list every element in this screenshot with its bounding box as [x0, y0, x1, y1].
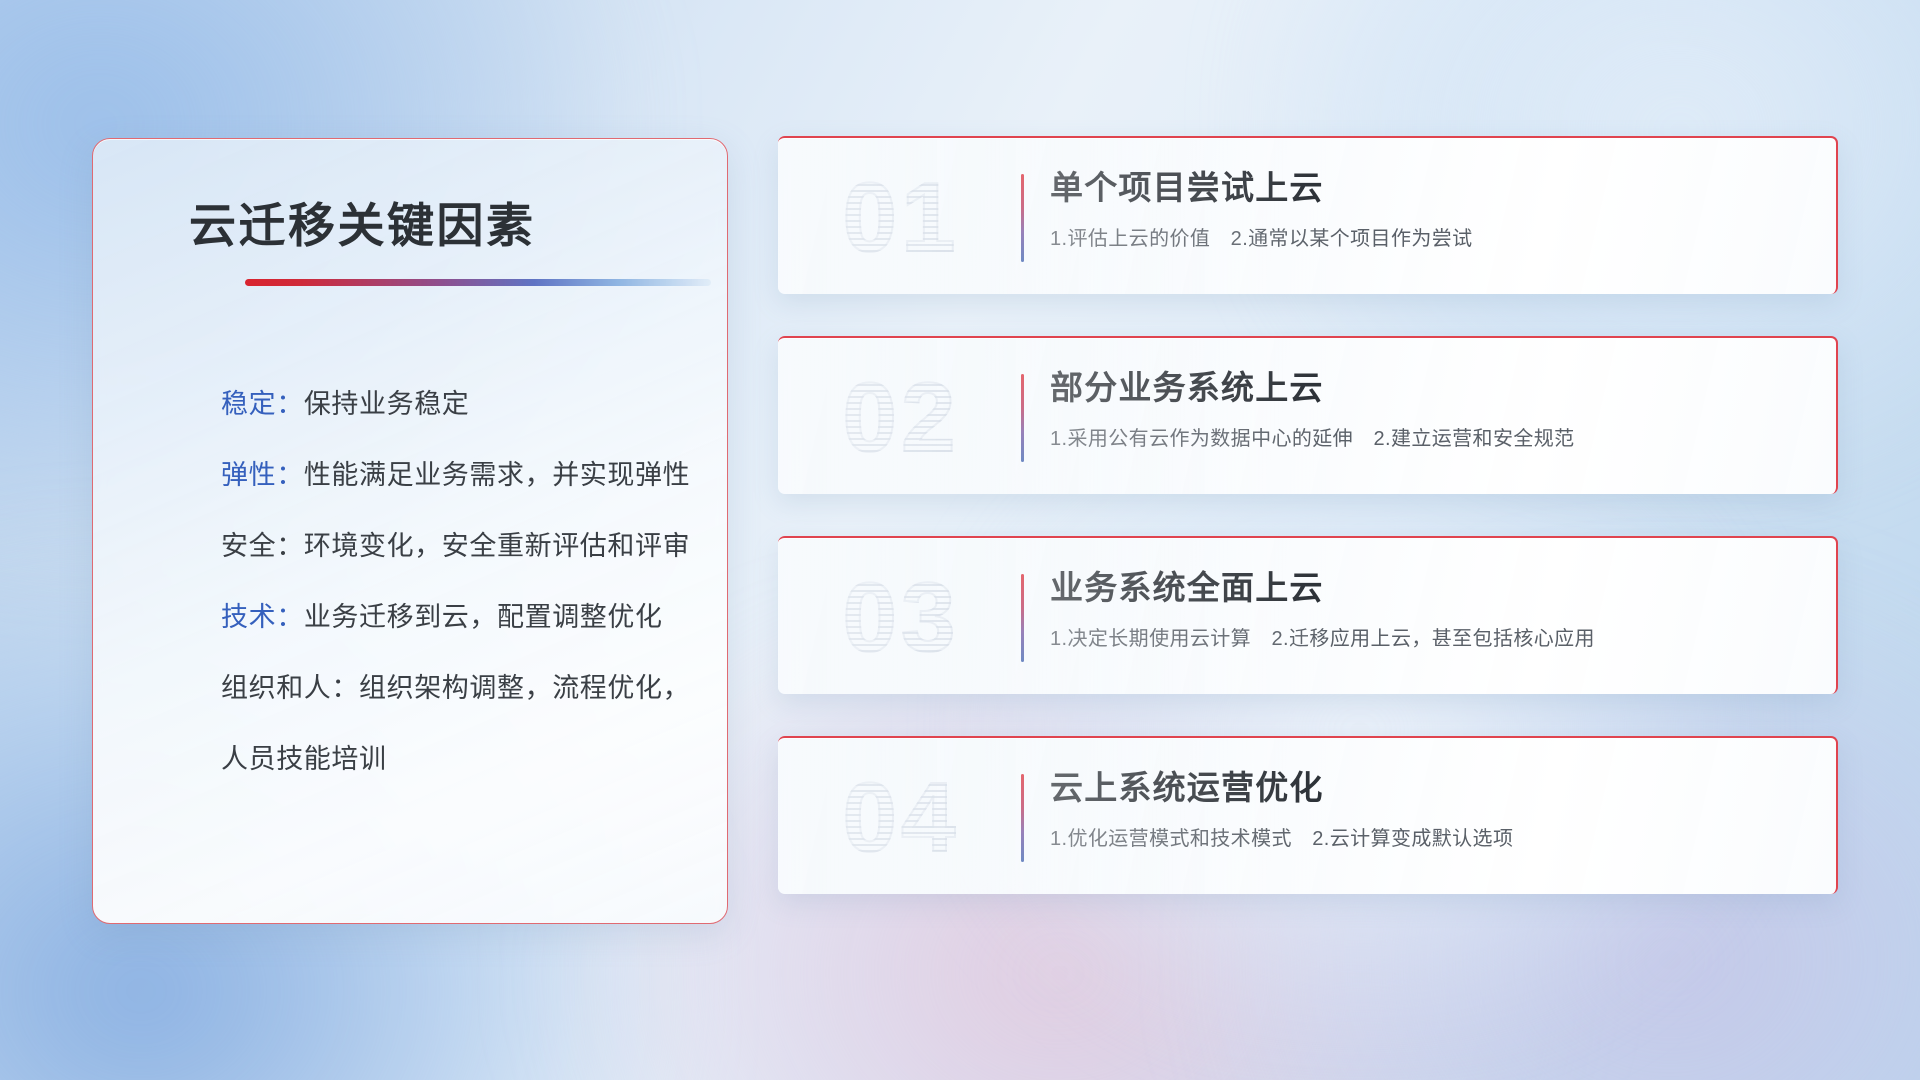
list-item: 弹性：性能满足业务需求，并实现弹性: [221, 462, 687, 489]
list-item-label: 安全：: [221, 531, 304, 561]
stage-number-watermark: 01: [806, 152, 996, 282]
list-item: 技术：业务迁移到云，配置调整优化: [221, 604, 687, 631]
stage-card-title: 云上系统运营优化: [1050, 768, 1806, 808]
list-item-text: 业务迁移到云，配置调整优化: [304, 602, 663, 632]
stage-card-title: 部分业务系统上云: [1050, 368, 1806, 408]
stage-accent-bar: [1021, 174, 1024, 262]
list-item-text: 保持业务稳定: [304, 389, 470, 419]
stage-card-description: 1.决定长期使用云计算 2.迁移应用上云，甚至包括核心应用: [1050, 622, 1806, 651]
stage-number-watermark: 02: [806, 352, 996, 482]
list-item-label: 组织和人：: [221, 673, 359, 703]
stage-card-body: 云上系统运营优化 1.优化运营模式和技术模式 2.云计算变成默认选项: [1050, 768, 1806, 851]
stage-card-body: 部分业务系统上云 1.采用公有云作为数据中心的延伸 2.建立运营和安全规范: [1050, 368, 1806, 451]
stage-card[interactable]: 04 云上系统运营优化 1.优化运营模式和技术模式 2.云计算变成默认选项: [778, 736, 1838, 894]
page-title: 云迁移关键因素: [189, 187, 536, 256]
list-item: 稳定：保持业务稳定: [221, 391, 687, 418]
stage-card-description: 1.评估上云的价值 2.通常以某个项目作为尝试: [1050, 222, 1806, 251]
key-factors-panel: 云迁移关键因素 稳定：保持业务稳定 弹性：性能满足业务需求，并实现弹性 安全：环…: [92, 138, 728, 924]
slide-stage: 云迁移关键因素 稳定：保持业务稳定 弹性：性能满足业务需求，并实现弹性 安全：环…: [0, 0, 1920, 1080]
list-item-text: 人员技能培训: [221, 744, 387, 774]
list-item-label: 技术：: [221, 602, 304, 632]
list-item-text: 组织架构调整，流程优化，: [359, 673, 690, 703]
title-underline-rule: [245, 279, 711, 286]
stage-card[interactable]: 03 业务系统全面上云 1.决定长期使用云计算 2.迁移应用上云，甚至包括核心应…: [778, 536, 1838, 694]
stage-card-body: 单个项目尝试上云 1.评估上云的价值 2.通常以某个项目作为尝试: [1050, 168, 1806, 251]
list-item-label: 稳定：: [221, 389, 304, 419]
stage-card[interactable]: 02 部分业务系统上云 1.采用公有云作为数据中心的延伸 2.建立运营和安全规范: [778, 336, 1838, 494]
list-item: 人员技能培训: [221, 746, 687, 773]
stage-accent-bar: [1021, 774, 1024, 862]
stage-card-title: 单个项目尝试上云: [1050, 168, 1806, 208]
key-factors-list: 稳定：保持业务稳定 弹性：性能满足业务需求，并实现弹性 安全：环境变化，安全重新…: [221, 391, 687, 773]
migration-stage-cards: 01 单个项目尝试上云 1.评估上云的价值 2.通常以某个项目作为尝试 02 部…: [778, 136, 1838, 894]
list-item-label: 弹性：: [221, 460, 304, 490]
stage-card-body: 业务系统全面上云 1.决定长期使用云计算 2.迁移应用上云，甚至包括核心应用: [1050, 568, 1806, 651]
stage-card-description: 1.优化运营模式和技术模式 2.云计算变成默认选项: [1050, 822, 1806, 851]
stage-number-watermark: 03: [806, 552, 996, 682]
stage-accent-bar: [1021, 574, 1024, 662]
list-item: 组织和人：组织架构调整，流程优化，: [221, 675, 687, 702]
stage-card[interactable]: 01 单个项目尝试上云 1.评估上云的价值 2.通常以某个项目作为尝试: [778, 136, 1838, 294]
stage-card-description: 1.采用公有云作为数据中心的延伸 2.建立运营和安全规范: [1050, 422, 1806, 451]
stage-accent-bar: [1021, 374, 1024, 462]
list-item-text: 环境变化，安全重新评估和评审: [304, 531, 690, 561]
list-item: 安全：环境变化，安全重新评估和评审: [221, 533, 687, 560]
list-item-text: 性能满足业务需求，并实现弹性: [304, 460, 690, 490]
stage-number-watermark: 04: [806, 752, 996, 882]
stage-card-title: 业务系统全面上云: [1050, 568, 1806, 608]
